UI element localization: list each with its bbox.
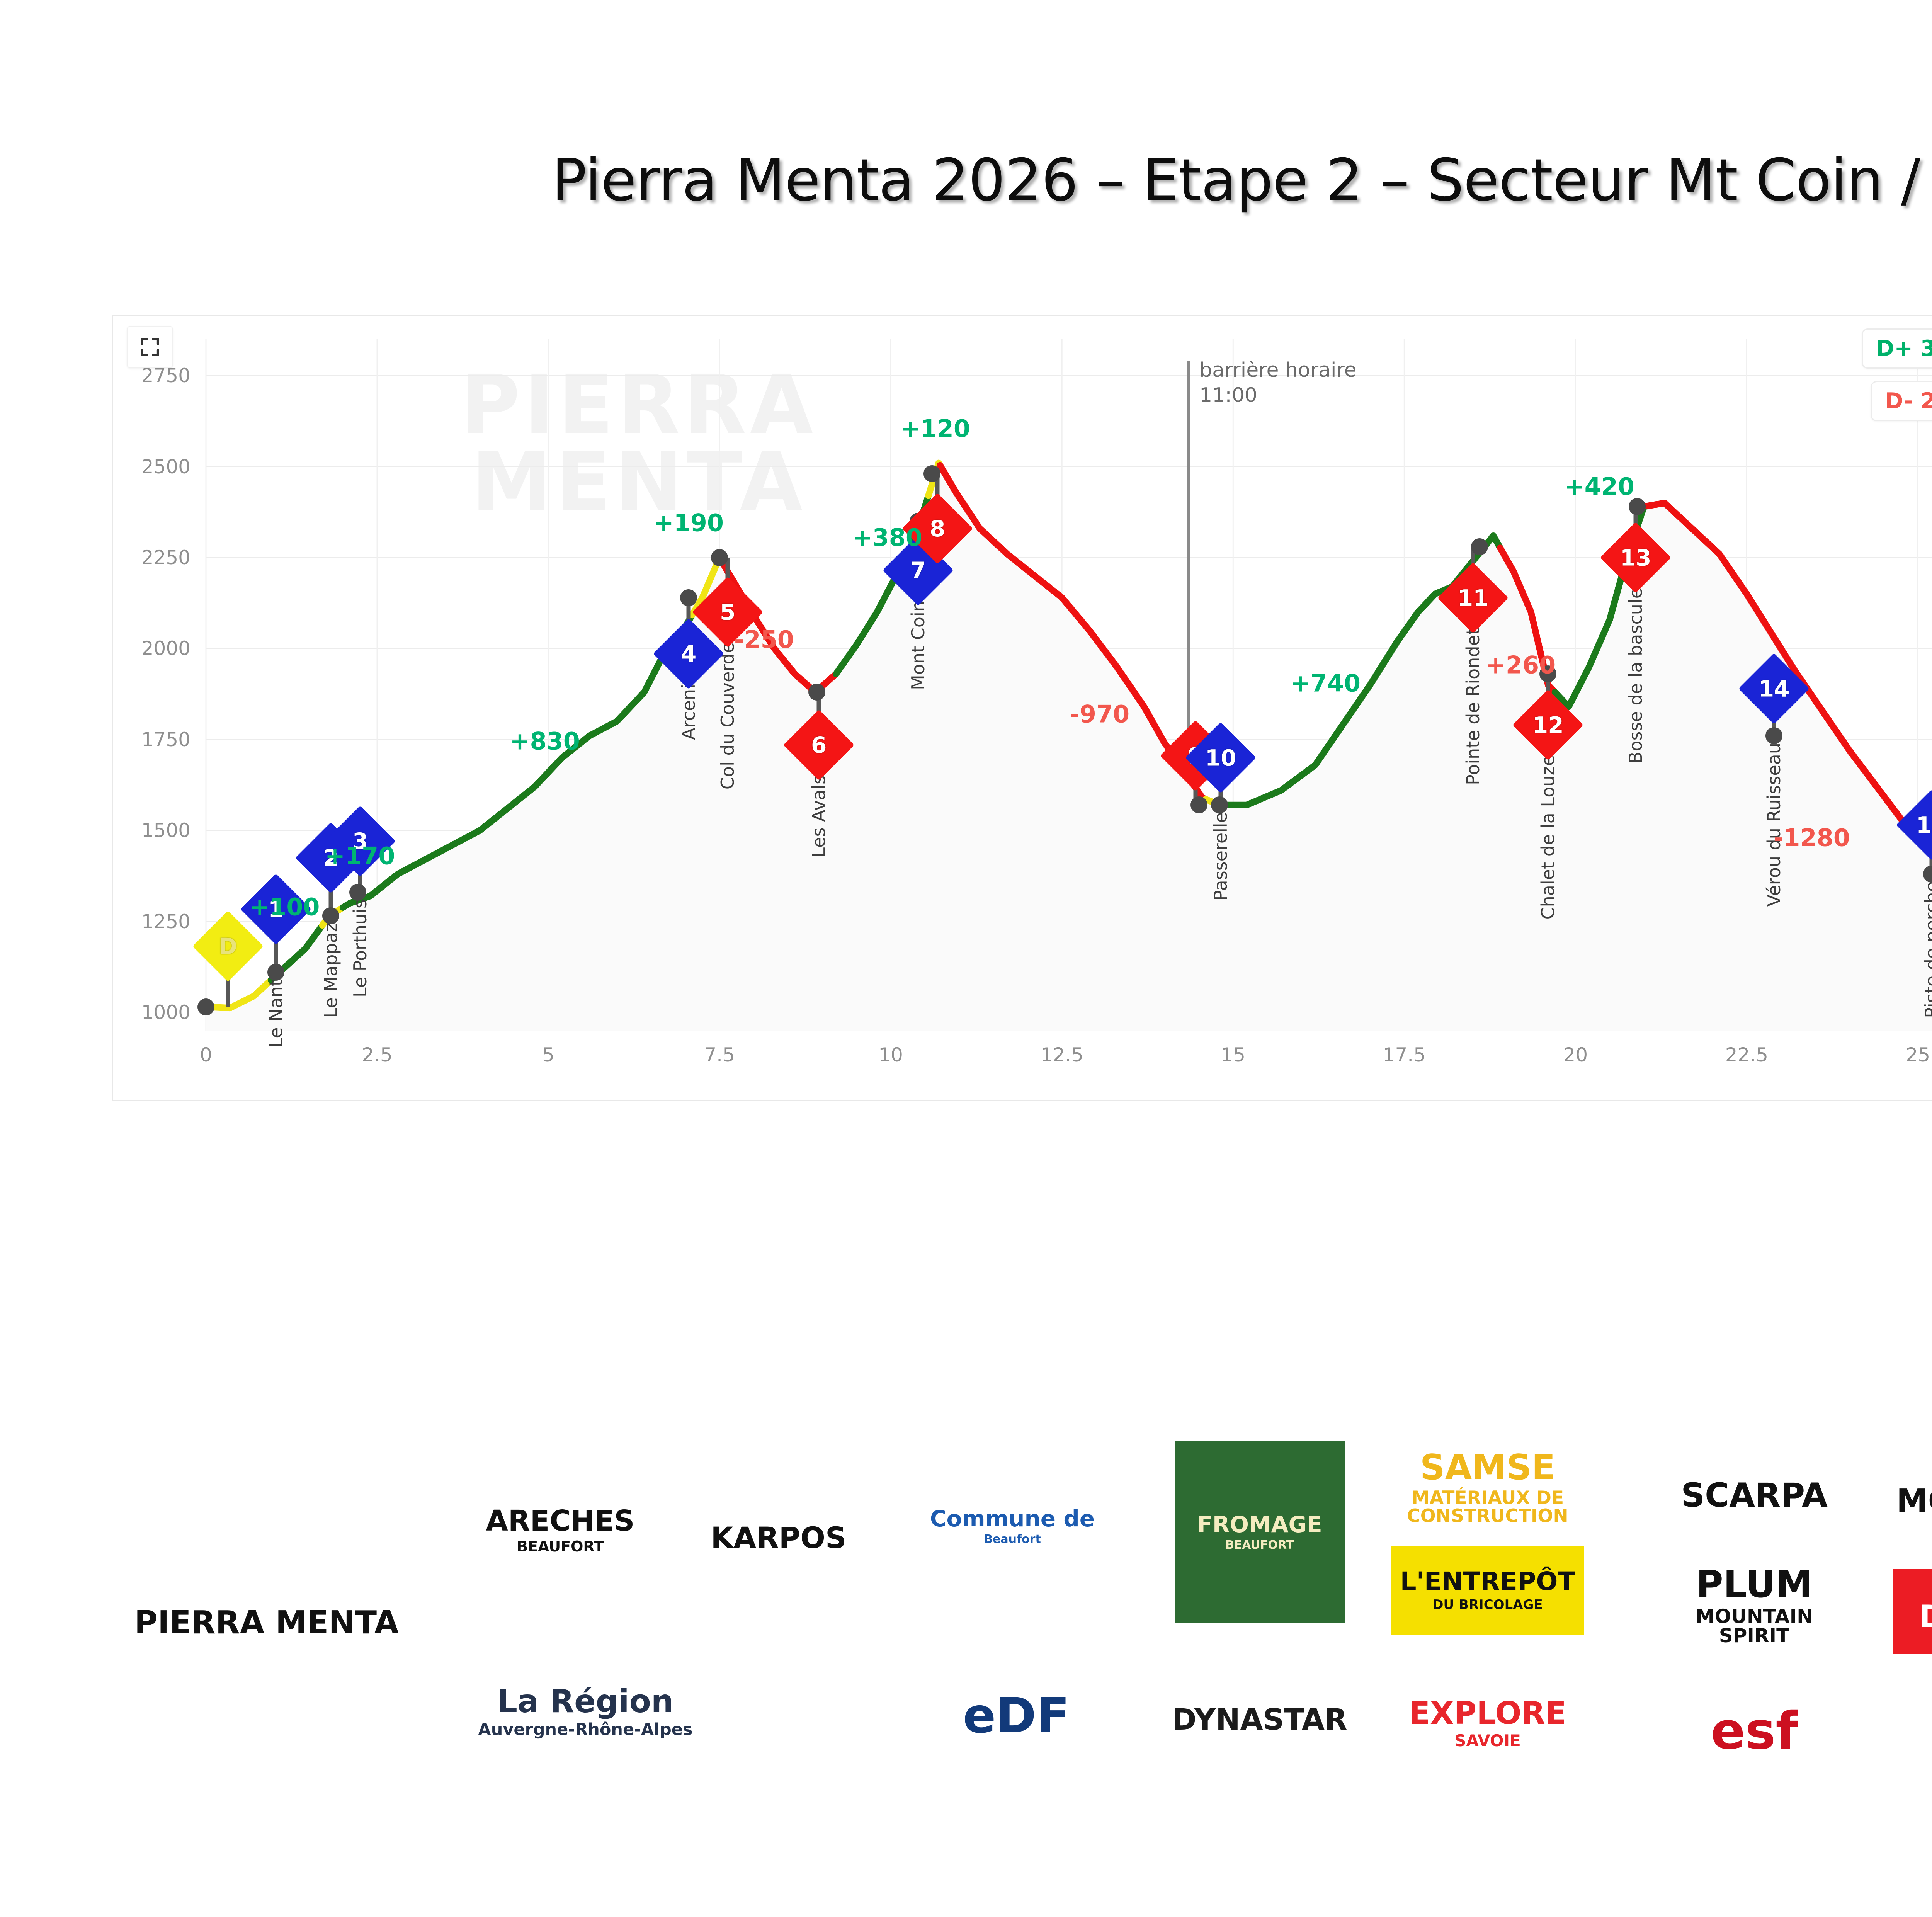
badge-d-minus: D- 2830m <box>1871 381 1932 421</box>
poi-marker-number: 7 <box>910 557 926 583</box>
sponsor-logo-pierra-menta: PIERRA MENTA <box>116 1437 417 1808</box>
badge-d-plus: D+ 3000m <box>1862 328 1932 369</box>
poi-point <box>923 465 940 482</box>
sponsor-logo-commune-de-beaufort: Commune deBeaufort <box>873 1445 1151 1607</box>
sponsor-name: SCARPA <box>1681 1479 1828 1512</box>
profile-area-fill <box>206 463 1932 1031</box>
sponsor-name: Commune de <box>930 1507 1095 1530</box>
poi-point <box>680 589 697 606</box>
poi-point <box>1211 796 1228 813</box>
sponsor-logo-areches-beaufort: ARECHESBEAUFORT <box>437 1445 684 1615</box>
sponsor-tagline: SAVOIE <box>1454 1733 1521 1749</box>
poi-point <box>711 549 728 566</box>
chart-plot-area: 1000125015001750200022502500275002.557.5… <box>113 316 1932 1100</box>
elevation-profile-svg <box>113 316 1932 1100</box>
fullscreen-button[interactable] <box>127 326 173 368</box>
poi-marker-number: 13 <box>1620 544 1651 571</box>
sponsor-tagline: MATÉRIAUX DE CONSTRUCTION <box>1391 1489 1584 1525</box>
sponsor-name: PLUM <box>1696 1566 1813 1603</box>
poi-point <box>197 998 214 1015</box>
sponsor-name: esf <box>1711 1706 1798 1757</box>
elevation-delta-label: +100 <box>250 893 320 921</box>
poi-point <box>1471 538 1488 555</box>
poi-label-col-du-couverde: Col du Couverde <box>717 642 738 789</box>
elevation-delta-label: +120 <box>900 414 970 442</box>
elevation-delta-label: +190 <box>654 509 724 537</box>
sponsor-logo-explore-savoie: EXPLORESAVOIE <box>1399 1658 1577 1789</box>
poi-marker-number: 4 <box>681 641 696 667</box>
sponsor-logo-montagnes-magazine: MONTAGNES <box>1901 1457 1932 1546</box>
poi-point <box>1765 727 1782 744</box>
elevation-delta-label: -1280 <box>1774 823 1850 852</box>
poi-marker-number: 10 <box>1205 745 1236 771</box>
poi-marker-number: 6 <box>811 732 827 758</box>
sponsor-name: FROMAGE <box>1197 1513 1322 1536</box>
elevation-delta-label: +260 <box>1486 651 1556 679</box>
sponsor-tagline: MOUNTAIN SPIRIT <box>1662 1607 1847 1645</box>
sponsor-logo-karpos: KARPOS <box>692 1453 866 1623</box>
sponsor-logo-dynastar: DYNASTAR <box>1155 1650 1364 1789</box>
sponsor-name: SAMSE <box>1420 1450 1555 1485</box>
poi-label-chalet-de-la-louze: Chalet de la Louze <box>1537 755 1558 919</box>
poi-label-les-avals: Les Avals <box>808 775 829 857</box>
sponsor-name: PIERRA MENTA <box>134 1607 399 1639</box>
sponsor-name: ARECHES <box>486 1507 635 1535</box>
sponsor-logo-plum: PLUMMOUNTAIN SPIRIT <box>1662 1557 1847 1654</box>
sponsor-logo-edf: eDF <box>893 1642 1140 1789</box>
sponsor-logo-grid: PIERRA MENTAARECHESBEAUFORTLa RégionAuve… <box>116 1434 1932 1824</box>
sponsor-name: MONTAGNES <box>1896 1485 1932 1517</box>
sponsor-name: DYNASTAR <box>1172 1705 1347 1734</box>
poi-label-arceni: Arceni <box>678 684 699 740</box>
sponsor-tagline: BEAUFORT <box>1225 1539 1294 1551</box>
sponsor-logo-la-region: La RégionAuvergne-Rhône-Alpes <box>425 1638 746 1785</box>
elevation-delta-label: +830 <box>510 727 580 755</box>
sponsor-logo-fromage-beaufort: FROMAGEBEAUFORT <box>1175 1441 1345 1623</box>
sponsor-tagline: BEAUFORT <box>517 1539 604 1554</box>
sponsor-name: EXPLORE <box>1409 1698 1566 1729</box>
poi-marker-number: 15 <box>1916 812 1932 838</box>
poi-label-pointe-de-riondet: Pointe de Riondet <box>1463 628 1483 785</box>
sponsor-logo-tivoly: TIVOLY <box>1913 1677 1932 1770</box>
sponsor-name: La Région <box>497 1686 673 1718</box>
poi-label-le-porthuis: Le Porthuis <box>350 899 371 997</box>
poi-point <box>267 964 284 981</box>
page-title: Pierra Menta 2026 – Etape 2 – Secteur Mt… <box>0 147 1932 214</box>
elevation-delta-label: +170 <box>325 842 395 870</box>
poi-marker-number: 11 <box>1457 585 1488 611</box>
sponsor-logo-esf: esf <box>1669 1681 1839 1781</box>
sponsor-tagline: Auvergne-Rhône-Alpes <box>478 1721 692 1738</box>
poi-marker-number: D <box>219 933 237 959</box>
sponsor-name: LE DAUPHINÉ <box>1893 1570 1932 1632</box>
poi-label-le-nant: Le Nant <box>265 979 286 1048</box>
sponsor-logo-samse: SAMSEMATÉRIAUX DE CONSTRUCTION <box>1391 1437 1584 1538</box>
poi-marker-number: 8 <box>930 515 945 542</box>
sponsor-logo-entrepot-du-bricolage: L'ENTREPÔTDU BRICOLAGE <box>1391 1546 1584 1635</box>
sponsor-tagline: DU BRICOLAGE <box>1432 1598 1543 1611</box>
poi-label-piste-de-perche: Piste de perche <box>1921 881 1932 1018</box>
sponsor-name: eDF <box>963 1691 1070 1740</box>
poi-label-bosse-de-la-bascule: Bosse de la bascule <box>1625 588 1646 764</box>
poi-point <box>349 884 366 901</box>
barriere-horaire-line <box>1187 361 1190 747</box>
elevation-profile-chart[interactable]: PIERRA MENTA D+ 3000m D- 2830m 100012501… <box>112 315 1932 1101</box>
sponsor-name: L'ENTREPÔT <box>1400 1569 1575 1594</box>
sponsor-logo-scarpa: SCARPA <box>1654 1457 1855 1534</box>
elevation-delta-label: +740 <box>1291 669 1361 697</box>
sponsor-logo-le-dauphine-libere: LE DAUPHINÉlibéré <box>1893 1569 1932 1654</box>
poi-label-le-mappaz: Le Mappaz <box>320 923 341 1018</box>
poi-marker-number: 14 <box>1759 675 1790 702</box>
poi-marker-number: 5 <box>720 599 735 625</box>
poi-label-passerelle: Passerelle <box>1210 812 1231 901</box>
poi-marker-number: 12 <box>1532 712 1564 738</box>
poi-label-mont-coin: Mont Coin <box>908 600 929 690</box>
poi-point <box>808 684 825 701</box>
sponsor-name: KARPOS <box>711 1523 846 1553</box>
elevation-delta-label: +420 <box>1565 473 1634 501</box>
elevation-delta-label: +380 <box>852 524 922 552</box>
elevation-delta-label: -250 <box>734 625 794 653</box>
fullscreen-icon <box>138 335 162 359</box>
barriere-horaire-label: barrière horaire 11:00 <box>1199 358 1357 408</box>
poi-point <box>1190 796 1207 813</box>
sponsor-tagline: Beaufort <box>984 1534 1041 1545</box>
poi-point <box>322 907 339 924</box>
elevation-delta-label: -970 <box>1070 700 1129 728</box>
